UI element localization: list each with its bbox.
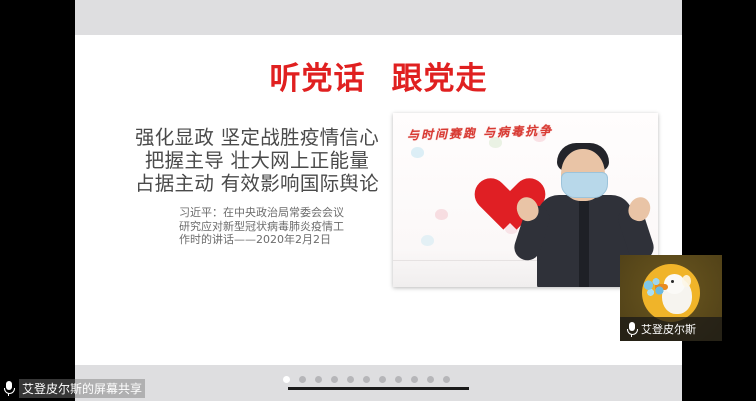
pagination-dot[interactable] (411, 376, 418, 383)
pagination-dot[interactable] (315, 376, 322, 383)
person-torso (537, 195, 633, 287)
paper-petal-icon (421, 235, 434, 246)
microphone-icon (4, 381, 13, 396)
water-splash-icon (644, 278, 666, 296)
pagination-dot[interactable] (379, 376, 386, 383)
slide-body-line-3: 占据主动 有效影响国际舆论 (107, 172, 407, 195)
slide-body-line-2: 把握主导 壮大网上正能量 (107, 149, 407, 172)
citation-line-1: 习近平：在中央政治局常委会会议 (179, 206, 394, 220)
slide-body: 强化显政 坚定战胜疫情信心 把握主导 壮大网上正能量 占据主动 有效影响国际舆论 (107, 126, 407, 195)
participant-video-tile[interactable]: 艾登皮尔斯 (620, 255, 722, 341)
presentation-slide[interactable]: 听党话跟党走 强化显政 坚定战胜疫情信心 把握主导 壮大网上正能量 占据主动 有… (75, 35, 682, 365)
slide-title-part1: 听党话 (270, 61, 366, 97)
slide-title-part2: 跟党走 (392, 61, 488, 97)
pagination-progress-bar[interactable] (288, 387, 469, 390)
tile-name-bar: 艾登皮尔斯 (620, 317, 722, 341)
duck-avatar-icon (642, 264, 700, 322)
citation-line-3: 作时的讲话——2020年2月2日 (179, 233, 394, 247)
citation-line-2: 研究应对新型冠状病毒肺炎疫情工 (179, 220, 394, 234)
microphone-icon (627, 322, 636, 337)
paper-petal-icon (435, 209, 448, 220)
pagination-dots[interactable] (283, 375, 473, 384)
pagination-dot[interactable] (363, 376, 370, 383)
screen-share-label: 艾登皮尔斯的屏幕共享 (19, 379, 145, 398)
paper-petal-icon (411, 147, 424, 158)
pagination-dot[interactable] (331, 376, 338, 383)
duck-eye (671, 280, 674, 283)
face-mask-icon (561, 172, 608, 198)
slide-citation: 习近平：在中央政治局常委会会议 研究应对新型冠状病毒肺炎疫情工 作时的讲话——2… (179, 206, 394, 247)
slide-title: 听党话跟党走 (75, 53, 682, 98)
pagination-dot[interactable] (283, 376, 290, 383)
pagination-dot[interactable] (299, 376, 306, 383)
screen-share-window: 听党话跟党走 强化显政 坚定战胜疫情信心 把握主导 壮大网上正能量 占据主动 有… (0, 0, 756, 401)
pagination-dot[interactable] (347, 376, 354, 383)
slide-photo: 与时间赛跑 与病毒抗争 (393, 113, 658, 287)
slide-body-line-1: 强化显政 坚定战胜疫情信心 (107, 126, 407, 149)
participant-name: 艾登皮尔斯 (641, 321, 696, 337)
pagination-dot[interactable] (443, 376, 450, 383)
egg-icon (682, 275, 691, 287)
pagination-dot[interactable] (395, 376, 402, 383)
pagination-dot[interactable] (427, 376, 434, 383)
screen-share-status: 艾登皮尔斯的屏幕共享 (4, 380, 145, 397)
